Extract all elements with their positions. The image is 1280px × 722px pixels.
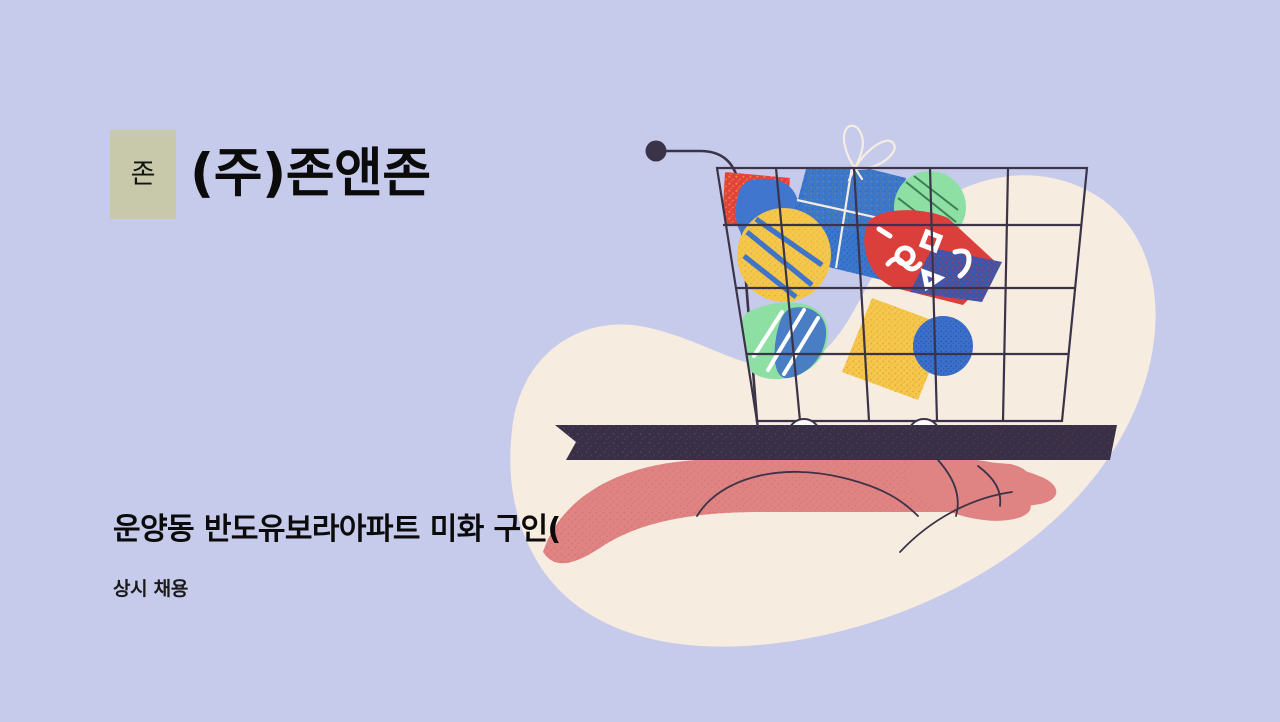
hand-holding-tray bbox=[543, 457, 1056, 563]
item-red-blue-squiggle-tag bbox=[864, 210, 1002, 305]
company-name: (주)존앤존 bbox=[190, 147, 431, 201]
job-title: 운양동 반도유보라아파트 미화 구인( bbox=[113, 504, 561, 548]
company-header: 존 (주)존앤존 bbox=[110, 130, 431, 219]
job-status-badge: 상시 채용 bbox=[113, 574, 188, 601]
company-logo-text: 존 bbox=[131, 161, 156, 188]
item-blue-rounded-blob bbox=[736, 179, 799, 247]
item-yellow-circle-blue-stripes bbox=[737, 208, 831, 302]
cart-handle bbox=[663, 151, 757, 421]
poster-background bbox=[0, 0, 1280, 722]
item-yellow-orange-diamond bbox=[842, 298, 948, 400]
cart-contents bbox=[722, 154, 1002, 400]
item-green-blue-blob-white-lines bbox=[739, 302, 828, 379]
hand-fingers bbox=[907, 458, 1056, 521]
item-green-circle-diagonal-lines bbox=[894, 171, 966, 243]
cream-blob bbox=[510, 175, 1155, 646]
gift-bow-icon bbox=[844, 126, 895, 180]
item-blue-navy-speckled-circle bbox=[913, 316, 973, 376]
item-blue-gift-box bbox=[783, 154, 906, 280]
company-logo-badge: 존 bbox=[110, 130, 176, 219]
illustration-canvas bbox=[0, 0, 1280, 722]
cart-lower-frame bbox=[757, 421, 1028, 458]
cart-basket-frame bbox=[717, 168, 1087, 421]
item-red-orange-speckled-square bbox=[722, 172, 790, 228]
cart-handle-knob bbox=[646, 141, 667, 162]
job-posting-poster: 존 (주)존앤존 운양동 반도유보라아파트 미화 구인( 상시 채용 bbox=[0, 0, 1280, 722]
cart-wheels bbox=[788, 419, 940, 449]
dark-tray-bar bbox=[555, 425, 1117, 460]
